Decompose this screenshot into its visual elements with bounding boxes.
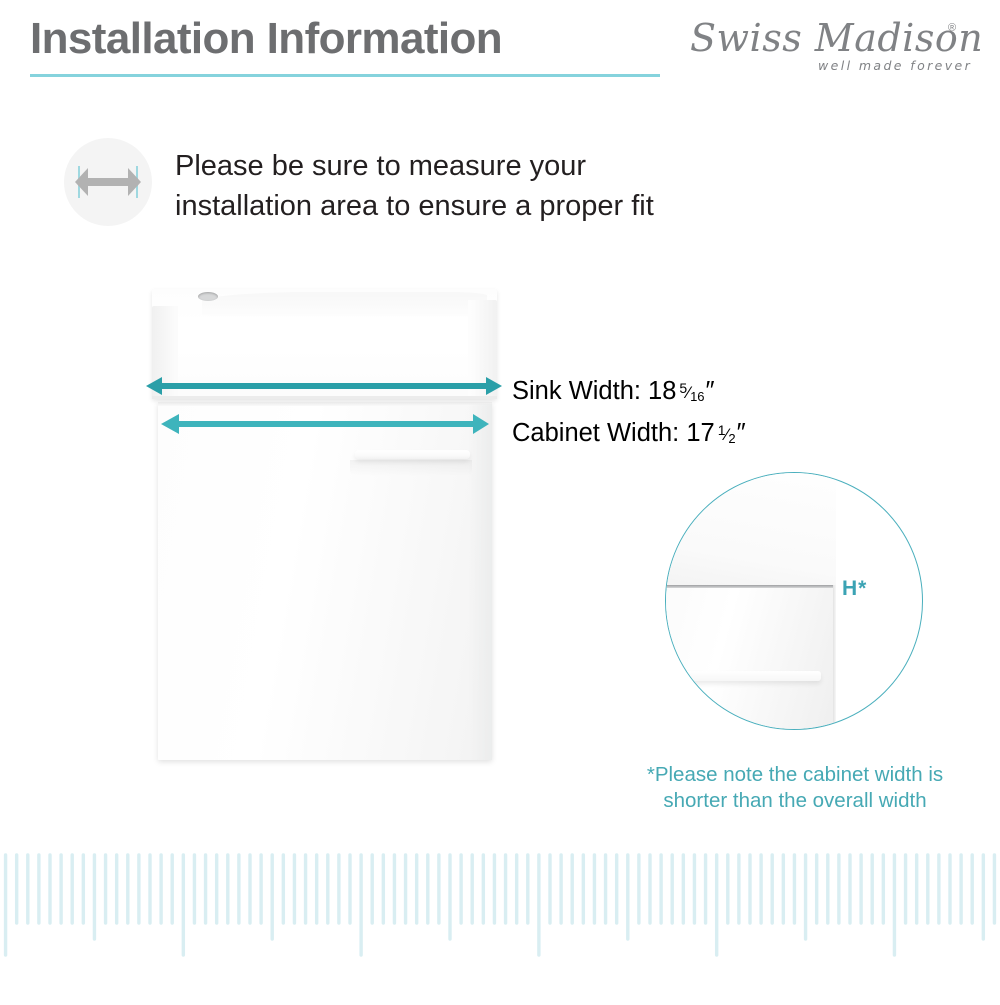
detail-cabinet-handle — [665, 671, 821, 681]
cabinet-width-whole: 17 — [686, 419, 714, 447]
cabinet-top-edge — [158, 402, 492, 406]
ruler-decoration — [0, 845, 1000, 1000]
footnote-line-1: *Please note the cabinet width is — [600, 762, 990, 788]
sink-width-denominator: 16 — [690, 389, 704, 404]
measure-instruction-text: Please be sure to measure your installat… — [175, 146, 795, 226]
sink-width-arrow-glyph — [146, 375, 502, 397]
detail-sink-underside — [665, 472, 836, 588]
cabinet-width-footnote: *Please note the cabinet width is shorte… — [600, 762, 990, 814]
cabinet-right-shading — [468, 404, 492, 760]
cabinet-width-denominator: 2 — [728, 431, 735, 446]
measure-instruction-line-2: installation area to ensure a proper fit — [175, 186, 795, 226]
vanity-product-image — [150, 284, 500, 764]
cabinet-width-numerator: 1 — [718, 422, 726, 438]
sink-width-label: Sink Width: 185⁄16″ — [512, 372, 952, 414]
faucet-hole — [198, 292, 218, 301]
sink-width-label-prefix: Sink Width: — [512, 377, 648, 405]
page-title: Installation Information — [30, 14, 502, 64]
brand-tagline: well made forever — [818, 58, 972, 73]
cabinet-handle — [355, 450, 470, 459]
registered-trademark-icon: ® — [948, 22, 956, 34]
cabinet-width-unit: ″ — [737, 419, 746, 447]
sink-bowl — [202, 292, 487, 316]
cabinet-width-arrow-glyph — [161, 412, 489, 436]
measure-instruction-line-1: Please be sure to measure your — [175, 146, 795, 186]
detail-callout-label: H* — [842, 577, 867, 601]
cabinet-width-label-prefix: Cabinet Width: — [512, 419, 686, 447]
measure-arrow-glyph — [64, 138, 152, 226]
detail-cabinet-face — [665, 588, 833, 730]
detail-cabinet-side — [833, 585, 836, 730]
sink-width-whole: 18 — [648, 377, 676, 405]
detail-magnifier-callout: H* — [665, 472, 923, 730]
title-underline — [30, 74, 660, 77]
double-arrow-measure-icon — [64, 138, 152, 226]
brand-name: Swiss Madison — [690, 16, 983, 60]
ruler-ticks — [0, 845, 1000, 1000]
cabinet-width-arrow — [161, 412, 489, 441]
dimension-labels: Sink Width: 185⁄16″ Cabinet Width: 171⁄2… — [512, 372, 952, 456]
sink-width-numerator: 5 — [679, 380, 687, 396]
sink-width-arrow — [146, 375, 502, 402]
cabinet-handle-shadow — [350, 460, 472, 476]
sink-width-fraction: 5⁄16 — [679, 374, 704, 413]
footnote-line-2: shorter than the overall width — [600, 788, 990, 814]
cabinet-width-label: Cabinet Width: 171⁄2″ — [512, 414, 952, 456]
cabinet-width-fraction: 1⁄2 — [718, 416, 736, 455]
brand-logo: Swiss Madison ® well made forever — [690, 16, 975, 78]
sink-width-unit: ″ — [706, 377, 715, 405]
page-header: Installation Information Swiss Madison ®… — [0, 0, 1000, 100]
